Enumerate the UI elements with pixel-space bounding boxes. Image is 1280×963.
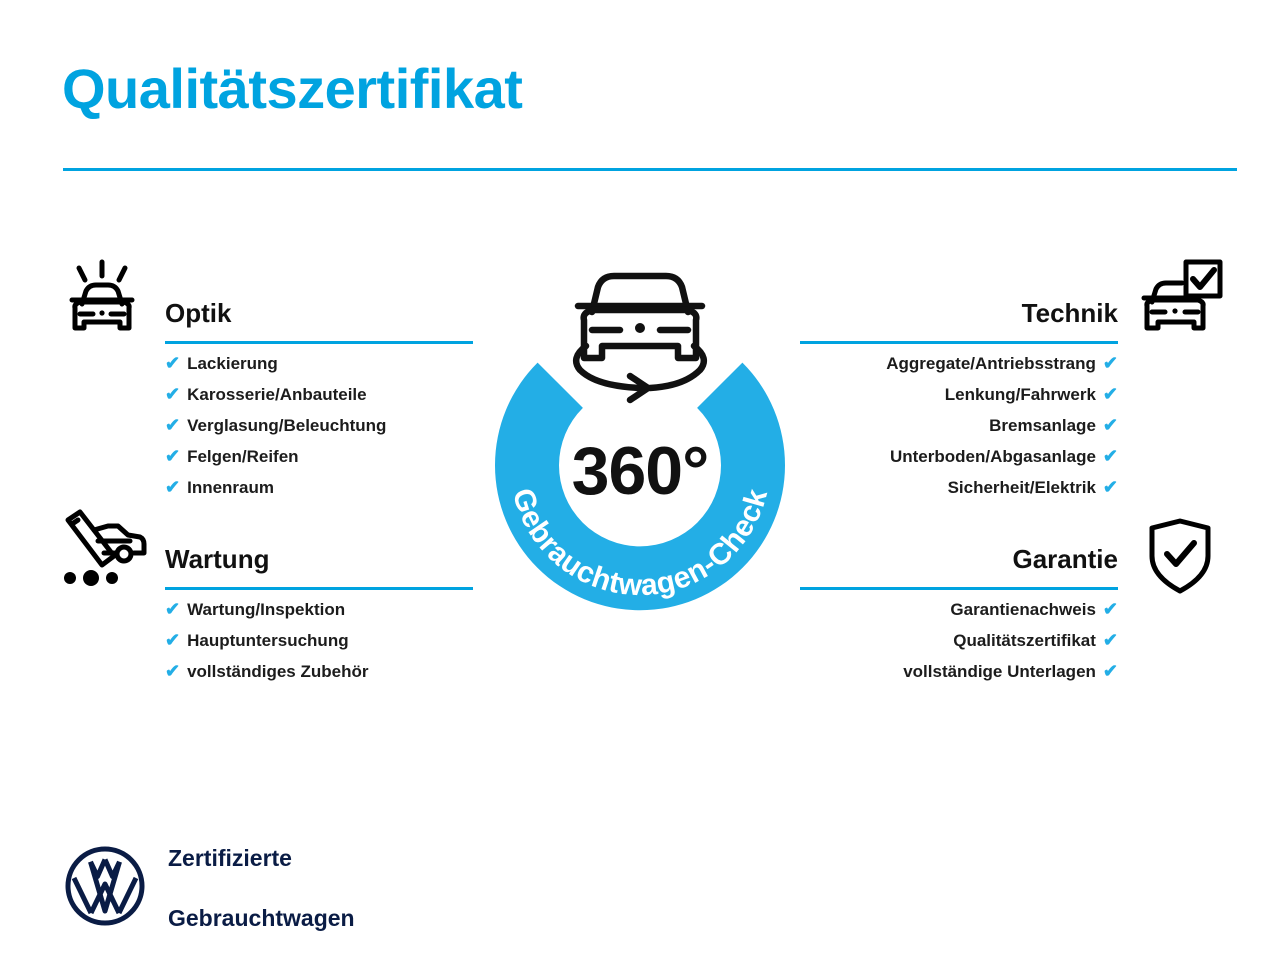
section-wartung-underline [165, 587, 473, 590]
list-item-label: Unterboden/Abgasanlage [890, 442, 1096, 472]
section-wartung: Wartung ✔Wartung/Inspektion ✔Hauptunters… [165, 542, 473, 687]
list-item: ✔Verglasung/Beleuchtung [165, 410, 473, 441]
list-item: ✔Karosserie/Anbauteile [165, 379, 473, 410]
section-garantie: Garantie Garantienachweis✔ Qualitätszert… [800, 542, 1118, 687]
section-wartung-header: Wartung [165, 542, 473, 594]
list-item: ✔Hauptuntersuchung [165, 625, 473, 656]
check-icon: ✔ [165, 410, 180, 440]
section-garantie-underline [800, 587, 1118, 590]
car-checkbox-icon [1136, 258, 1224, 347]
car-front-shine-icon [60, 258, 144, 347]
check-icon: ✔ [1103, 410, 1118, 440]
section-technik-underline [800, 341, 1118, 344]
vw-logo-icon [64, 845, 146, 932]
list-item: Qualitätszertifikat✔ [800, 625, 1118, 656]
section-optik-list: ✔Lackierung ✔Karosserie/Anbauteile ✔Verg… [165, 348, 473, 503]
list-item-label: Aggregate/Antriebsstrang [886, 349, 1096, 379]
car-rotate-360-icon [576, 276, 704, 400]
section-wartung-title: Wartung [165, 542, 473, 576]
check-icon: ✔ [165, 656, 180, 686]
list-item: ✔vollständiges Zubehör [165, 656, 473, 687]
header-divider [63, 168, 1237, 171]
footer-brand: Zertifizierte Gebrauchtwagen [64, 813, 355, 963]
section-optik: Optik ✔Lackierung ✔Karosserie/Anbauteile… [165, 296, 473, 503]
section-garantie-header: Garantie [800, 542, 1118, 594]
section-technik-header: Technik [800, 296, 1118, 348]
check-icon: ✔ [1103, 594, 1118, 624]
list-item: vollständige Unterlagen✔ [800, 656, 1118, 687]
list-item: ✔Felgen/Reifen [165, 441, 473, 472]
list-item: ✔Innenraum [165, 472, 473, 503]
list-item-label: Lenkung/Fahrwerk [945, 380, 1096, 410]
check-icon: ✔ [165, 472, 180, 502]
list-item-label: Hauptuntersuchung [187, 626, 349, 656]
check-icon: ✔ [1103, 472, 1118, 502]
footer-brand-line1: Zertifizierte [168, 843, 355, 873]
list-item: Unterboden/Abgasanlage✔ [800, 441, 1118, 472]
list-item-label: Innenraum [187, 473, 274, 503]
check-icon: ✔ [1103, 348, 1118, 378]
gebrauchtwagen-check-badge: Gebrauchtwagen-Check 360° [467, 252, 813, 638]
list-item-label: Karosserie/Anbauteile [187, 380, 367, 410]
list-item-label: Qualitätszertifikat [953, 626, 1096, 656]
check-icon: ✔ [1103, 441, 1118, 471]
section-wartung-list: ✔Wartung/Inspektion ✔Hauptuntersuchung ✔… [165, 594, 473, 687]
list-item-label: Verglasung/Beleuchtung [187, 411, 386, 441]
list-item: Bremsanlage✔ [800, 410, 1118, 441]
section-technik: Technik Aggregate/Antriebsstrang✔ Lenkun… [800, 296, 1118, 503]
section-optik-header: Optik [165, 296, 473, 348]
list-item: Aggregate/Antriebsstrang✔ [800, 348, 1118, 379]
footer-brand-line2: Gebrauchtwagen [168, 903, 355, 933]
list-item-label: vollständige Unterlagen [903, 657, 1096, 687]
list-item: Lenkung/Fahrwerk✔ [800, 379, 1118, 410]
list-item-label: Wartung/Inspektion [187, 595, 345, 625]
check-icon: ✔ [165, 348, 180, 378]
section-technik-list: Aggregate/Antriebsstrang✔ Lenkung/Fahrwe… [800, 348, 1118, 503]
check-icon: ✔ [165, 625, 180, 655]
check-icon: ✔ [165, 594, 180, 624]
page-title: Qualitätszertifikat [62, 58, 522, 120]
list-item: Sicherheit/Elektrik✔ [800, 472, 1118, 503]
pencil-car-service-icon [58, 508, 150, 595]
footer-brand-text: Zertifizierte Gebrauchtwagen [168, 813, 355, 963]
shield-check-icon [1145, 516, 1215, 601]
list-item: Garantienachweis✔ [800, 594, 1118, 625]
check-icon: ✔ [165, 379, 180, 409]
list-item-label: Bremsanlage [989, 411, 1096, 441]
list-item-label: vollständiges Zubehör [187, 657, 368, 687]
list-item: ✔Wartung/Inspektion [165, 594, 473, 625]
section-optik-underline [165, 341, 473, 344]
check-icon: ✔ [1103, 379, 1118, 409]
check-icon: ✔ [1103, 625, 1118, 655]
section-garantie-title: Garantie [800, 542, 1118, 576]
section-garantie-list: Garantienachweis✔ Qualitätszertifikat✔ v… [800, 594, 1118, 687]
section-technik-title: Technik [800, 296, 1118, 330]
list-item-label: Felgen/Reifen [187, 442, 298, 472]
section-optik-title: Optik [165, 296, 473, 330]
check-icon: ✔ [165, 441, 180, 471]
list-item-label: Garantienachweis [950, 595, 1096, 625]
list-item-label: Lackierung [187, 349, 278, 379]
badge-svg: Gebrauchtwagen-Check [467, 252, 813, 638]
list-item: ✔Lackierung [165, 348, 473, 379]
list-item-label: Sicherheit/Elektrik [948, 473, 1096, 503]
check-icon: ✔ [1103, 656, 1118, 686]
